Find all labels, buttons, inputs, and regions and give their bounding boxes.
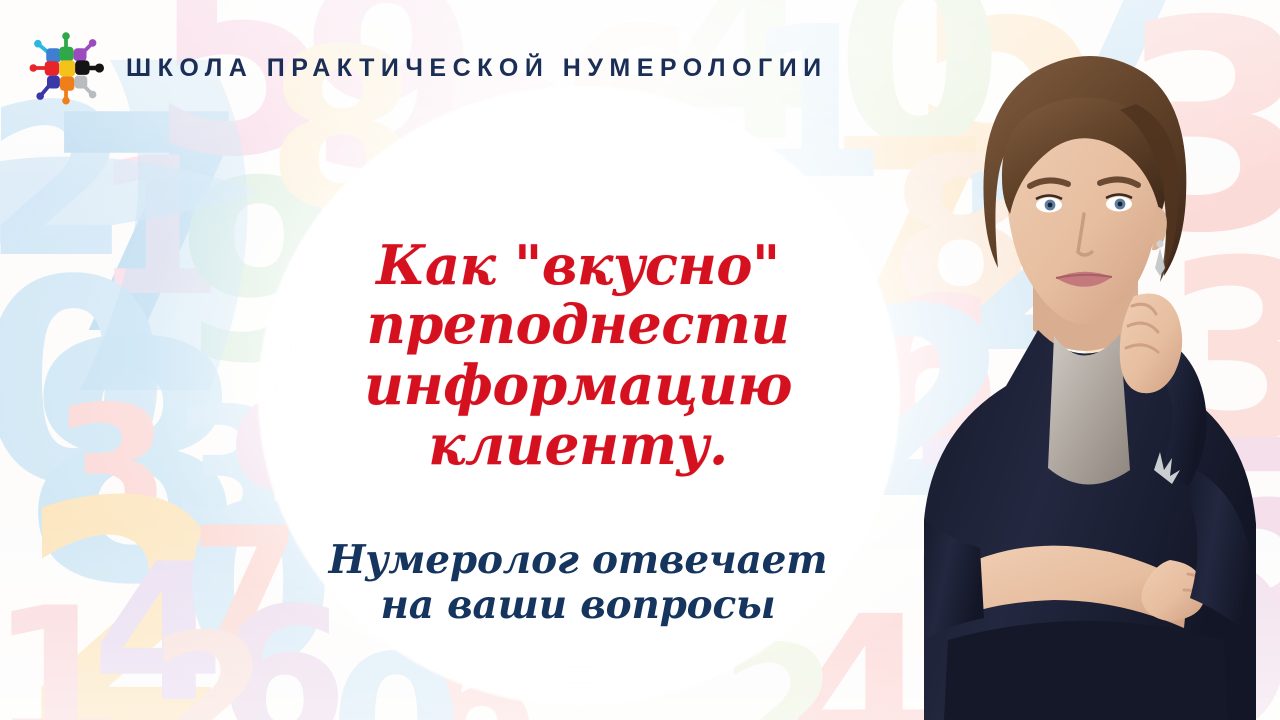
- brand-header: ШКОЛА ПРАКТИЧЕСКОЙ НУМЕРОЛОГИИ: [0, 30, 980, 106]
- presenter-portrait-image: [888, 0, 1280, 720]
- brand-title: ШКОЛА ПРАКТИЧЕСКОЙ НУМЕРОЛОГИИ: [126, 54, 828, 83]
- headline-line-1: Как "вкусно": [228, 236, 928, 295]
- copy-block: Как "вкусно" преподнести информацию клие…: [228, 236, 928, 628]
- thumbnail-canvas: 2759319808339240762160425073782642135964…: [0, 0, 1280, 720]
- subheadline-line-2: на ваши вопросы: [228, 583, 928, 628]
- numerology-grid-logo-icon: [28, 30, 104, 106]
- headline-line-2: преподнести: [228, 295, 928, 354]
- subheadline-line-1: Нумеролог отвечает: [228, 538, 928, 583]
- headline-line-3: информацию клиенту.: [228, 355, 928, 476]
- background-number: 1: [0, 600, 122, 720]
- subheadline: Нумеролог отвечает на ваши вопросы: [228, 538, 928, 628]
- background-number: 2: [150, 628, 268, 720]
- headline: Как "вкусно" преподнести информацию клие…: [228, 236, 928, 476]
